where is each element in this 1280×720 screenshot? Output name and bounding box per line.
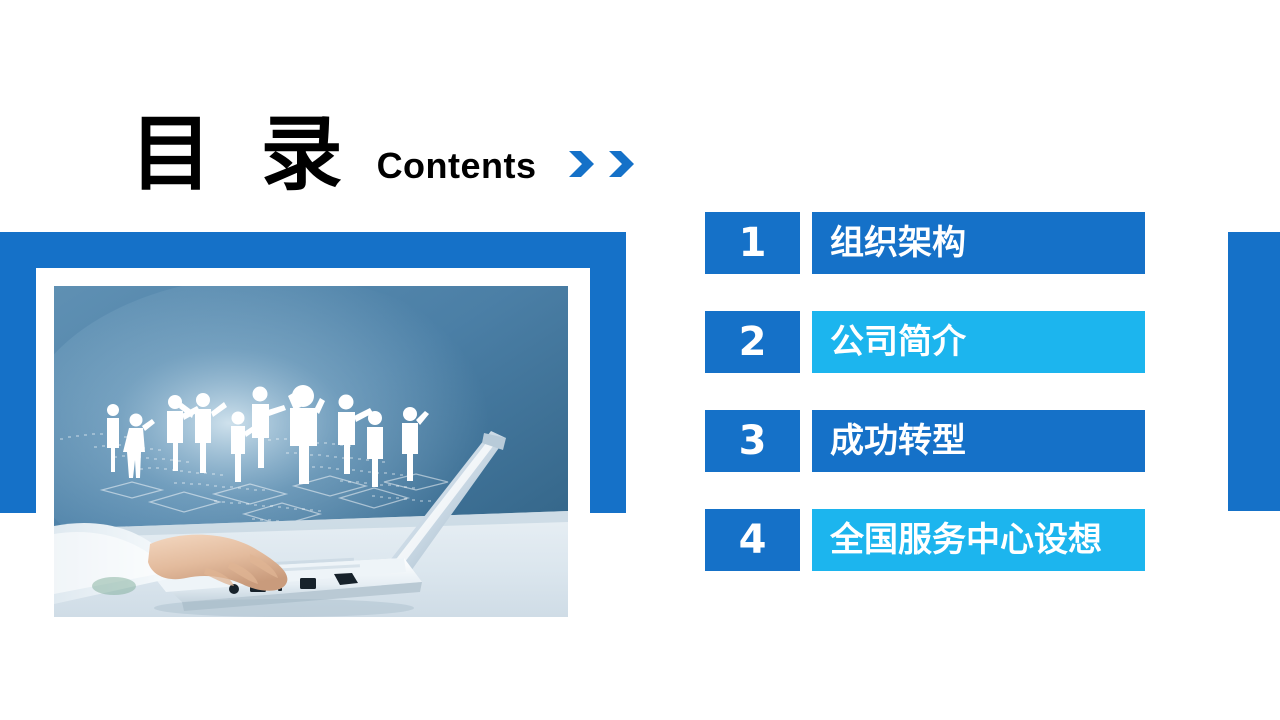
- toc-label-bar[interactable]: 组织架构: [812, 212, 1145, 274]
- list-item[interactable]: 3 成功转型: [705, 410, 1145, 472]
- chevron-right-icon: [607, 147, 641, 186]
- toc-number: 2: [739, 322, 767, 362]
- toc-number-badge: 3: [705, 410, 800, 472]
- toc-label-bar[interactable]: 全国服务中心设想: [812, 509, 1145, 571]
- toc-number: 3: [739, 421, 767, 461]
- toc-label-bar[interactable]: 公司简介: [812, 311, 1145, 373]
- toc-label: 公司简介: [830, 325, 966, 359]
- right-accent-bar: [1228, 232, 1280, 511]
- slide-header: 目 录 Contents: [130, 105, 641, 205]
- toc-number-badge: 1: [705, 212, 800, 274]
- toc-list: 1 组织架构 2 公司简介 3 成功转型 4: [705, 212, 1145, 571]
- list-item[interactable]: 4 全国服务中心设想: [705, 509, 1145, 571]
- page-title: 目 录: [130, 114, 353, 196]
- toc-number: 4: [739, 520, 767, 560]
- list-item[interactable]: 2 公司简介: [705, 311, 1145, 373]
- list-item[interactable]: 1 组织架构: [705, 212, 1145, 274]
- toc-label: 全国服务中心设想: [830, 523, 1102, 557]
- toc-label-bar[interactable]: 成功转型: [812, 410, 1145, 472]
- slide-photo: [54, 286, 568, 617]
- chevron-right-icon: [567, 147, 601, 186]
- toc-number-badge: 4: [705, 509, 800, 571]
- page-subtitle: Contents: [377, 145, 537, 187]
- toc-label: 成功转型: [830, 424, 966, 458]
- toc-label: 组织架构: [830, 226, 966, 260]
- toc-number-badge: 2: [705, 311, 800, 373]
- slide-canvas: 目 录 Contents: [0, 0, 1280, 720]
- chevron-group: [567, 147, 641, 186]
- toc-number: 1: [739, 223, 767, 263]
